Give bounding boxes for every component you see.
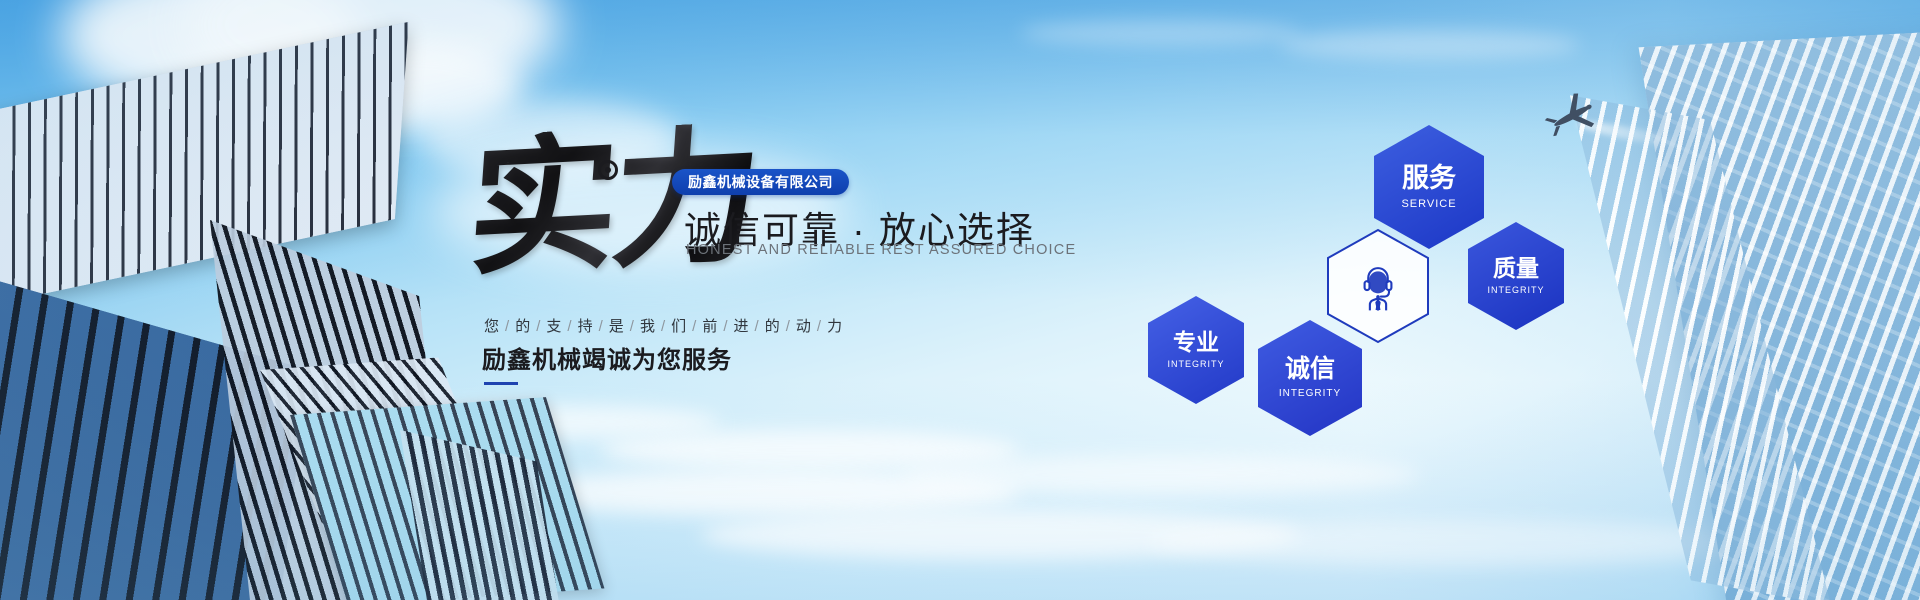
hexagon-label-cn: 服务 xyxy=(1402,165,1456,192)
tagline-char: 力 xyxy=(827,318,843,335)
tagline-char: 您 xyxy=(484,318,500,335)
tagline-char: 的 xyxy=(765,318,781,335)
hexagon-label-cn: 质量 xyxy=(1493,257,1539,280)
tagline-char: 动 xyxy=(796,318,812,335)
hexagon-label-en: INTEGRITY xyxy=(1487,285,1544,295)
hexagon-label-cn: 专业 xyxy=(1173,331,1219,354)
tagline-separator: / xyxy=(692,318,697,335)
tagline-char: 持 xyxy=(578,318,594,335)
tagline-main: 励鑫机械竭诚为您服务 xyxy=(482,340,732,375)
tagline-separator: / xyxy=(567,318,572,335)
tagline-separator: / xyxy=(505,318,510,335)
company-name-badge: 励鑫机械设备有限公司 xyxy=(672,169,849,195)
tagline-separator: / xyxy=(599,318,604,335)
tagline-separator: / xyxy=(661,318,666,335)
hexagon-badge-quality[interactable]: 质量 INTEGRITY xyxy=(1468,222,1564,330)
tagline-separator: / xyxy=(755,318,760,335)
tagline-separator: / xyxy=(723,318,728,335)
hexagon-label-en: SERVICE xyxy=(1401,198,1456,210)
hexagon-badge-support-icon[interactable] xyxy=(1326,228,1430,344)
slogan-english: HONEST AND RELIABLE REST ASSURED CHOICE xyxy=(686,242,1076,258)
tagline-separator: / xyxy=(817,318,822,335)
tagline-char: 进 xyxy=(734,318,750,335)
circle-dot-icon xyxy=(598,160,618,180)
tagline-char: 是 xyxy=(609,318,625,335)
hexagon-badge-professional[interactable]: 专业 INTEGRITY xyxy=(1148,296,1244,404)
tagline-separator: / xyxy=(786,318,791,335)
hexagon-label-en: INTEGRITY xyxy=(1279,388,1341,399)
tagline-underline xyxy=(484,382,518,385)
tagline-separator: / xyxy=(536,318,541,335)
tagline-char: 前 xyxy=(702,318,718,335)
tagline-char: 我 xyxy=(640,318,656,335)
tagline-separated: 您/的/支/持/是/我/们/前/进/的/动/力 xyxy=(484,315,843,336)
promo-banner: 实力 励鑫机械设备有限公司 诚信可靠 · 放心选择 HONEST AND REL… xyxy=(0,0,1920,600)
hexagon-label-en: INTEGRITY xyxy=(1167,359,1224,369)
tagline-separator: / xyxy=(630,318,635,335)
tagline-char: 们 xyxy=(671,318,687,335)
headset-agent-icon xyxy=(1352,260,1404,312)
banner-content: 实力 励鑫机械设备有限公司 诚信可靠 · 放心选择 HONEST AND REL… xyxy=(0,0,1920,600)
tagline-char: 的 xyxy=(515,318,531,335)
hexagon-label-cn: 诚信 xyxy=(1285,357,1335,382)
tagline-char: 支 xyxy=(546,318,562,335)
